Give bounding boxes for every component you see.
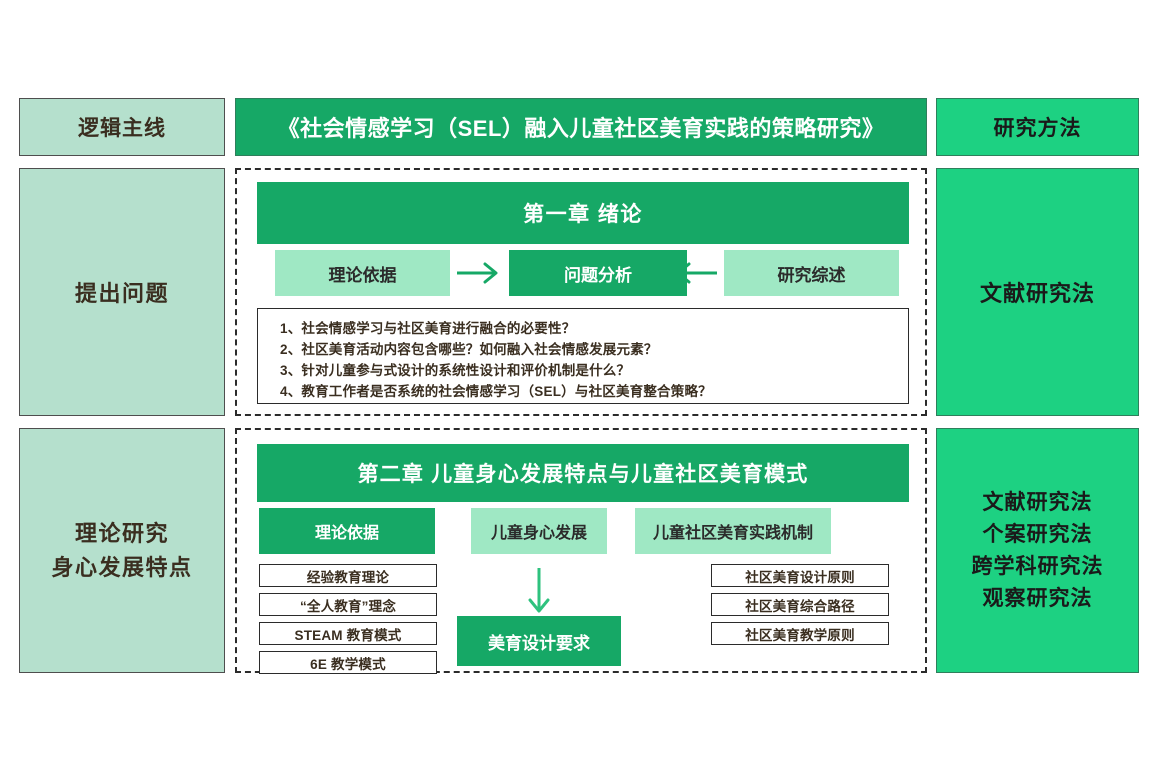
- ch1-theory-basis-box: 理论依据: [275, 250, 450, 296]
- arrow-left-icon: [671, 250, 721, 296]
- ch2-theory-basis-box: 理论依据: [259, 508, 435, 554]
- ch2-child-development-box: 儿童身心发展: [471, 508, 607, 554]
- theory-chip: 经验教育理论: [259, 564, 437, 587]
- research-method-item: 跨学科研究法: [972, 551, 1104, 583]
- stage-label-theoretical-research: 理论研究 身心发展特点: [19, 428, 225, 673]
- ch1-research-review-box: 研究综述: [724, 250, 899, 296]
- theory-basis-chip-list: 经验教育理论 “全人教育”理念 STEAM 教育模式 6E 教学模式: [259, 564, 437, 674]
- thesis-title-banner: 《社会情感学习（SEL）融入儿童社区美育实践的策略研究》: [235, 98, 927, 156]
- chapter-1-panel: 第一章 绪论 理论依据 问题分析 研究综述 1、社会情感学习与社区美育进行融合的…: [235, 168, 927, 416]
- stage-label-line-2: 身心发展特点: [51, 551, 192, 585]
- research-method-item: 观察研究法: [983, 583, 1093, 615]
- arrow-right-icon: [453, 250, 503, 296]
- chapter-2-title: 第二章 儿童身心发展特点与儿童社区美育模式: [257, 444, 909, 502]
- arrow-down-icon: [471, 564, 607, 620]
- research-question-item: 4、教育工作者是否系统的社会情感学习（SEL）与社区美育整合策略？: [280, 381, 908, 402]
- stage-label-raise-questions: 提出问题: [19, 168, 225, 416]
- research-method-item: 个案研究法: [983, 519, 1093, 551]
- theory-chip: “全人教育”理念: [259, 593, 437, 616]
- research-question-item: 1、社会情感学习与社区美育进行融合的必要性？: [280, 318, 908, 339]
- chapter-2-panel: 第二章 儿童身心发展特点与儿童社区美育模式 理论依据 儿童身心发展 儿童社区美育…: [235, 428, 927, 673]
- mechanism-chip: 社区美育设计原则: [711, 564, 889, 587]
- research-question-item: 2、社区美育活动内容包含哪些？如何融入社会情感发展元素？: [280, 339, 908, 360]
- mechanism-chip: 社区美育综合路径: [711, 593, 889, 616]
- ch2-practice-mechanism-box: 儿童社区美育实践机制: [635, 508, 831, 554]
- design-requirement-box: 美育设计要求: [457, 616, 621, 666]
- ch1-problem-analysis-box: 问题分析: [509, 250, 687, 296]
- research-methods-row-2: 文献研究法 个案研究法 跨学科研究法 观察研究法: [936, 428, 1139, 673]
- mechanism-chip: 社区美育教学原则: [711, 622, 889, 645]
- logic-main-line-header: 逻辑主线: [19, 98, 225, 156]
- theory-chip: 6E 教学模式: [259, 651, 437, 674]
- theory-chip: STEAM 教育模式: [259, 622, 437, 645]
- research-methods-row-1: 文献研究法: [936, 168, 1139, 416]
- diagram-canvas: 逻辑主线 《社会情感学习（SEL）融入儿童社区美育实践的策略研究》 研究方法 提…: [0, 0, 1157, 771]
- research-question-item: 3、针对儿童参与式设计的系统性设计和评价机制是什么？: [280, 360, 908, 381]
- chapter-1-title: 第一章 绪论: [257, 182, 909, 244]
- research-method-header: 研究方法: [936, 98, 1139, 156]
- research-questions-list: 1、社会情感学习与社区美育进行融合的必要性？ 2、社区美育活动内容包含哪些？如何…: [257, 308, 909, 404]
- practice-mechanism-chip-list: 社区美育设计原则 社区美育综合路径 社区美育教学原则: [711, 564, 889, 645]
- stage-label-line-1: 理论研究: [75, 517, 169, 551]
- research-method-item: 文献研究法: [983, 487, 1093, 519]
